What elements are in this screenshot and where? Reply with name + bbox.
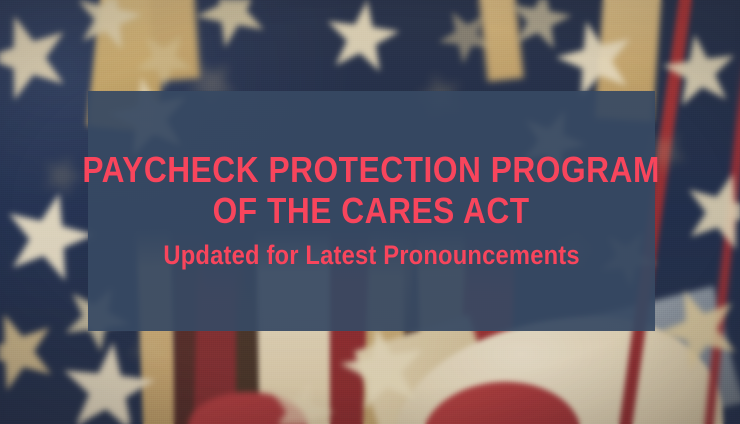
paycheck-protection-program-banner: PAYCHECK PROTECTION PROGRAM OF THE CARES… [0, 0, 740, 424]
headline-line-1: PAYCHECK PROTECTION PROGRAM [83, 151, 661, 190]
title-overlay-panel: PAYCHECK PROTECTION PROGRAM OF THE CARES… [88, 91, 655, 331]
subheadline: Updated for Latest Pronouncements [163, 241, 579, 271]
headline-line-2: OF THE CARES ACT [213, 192, 530, 231]
